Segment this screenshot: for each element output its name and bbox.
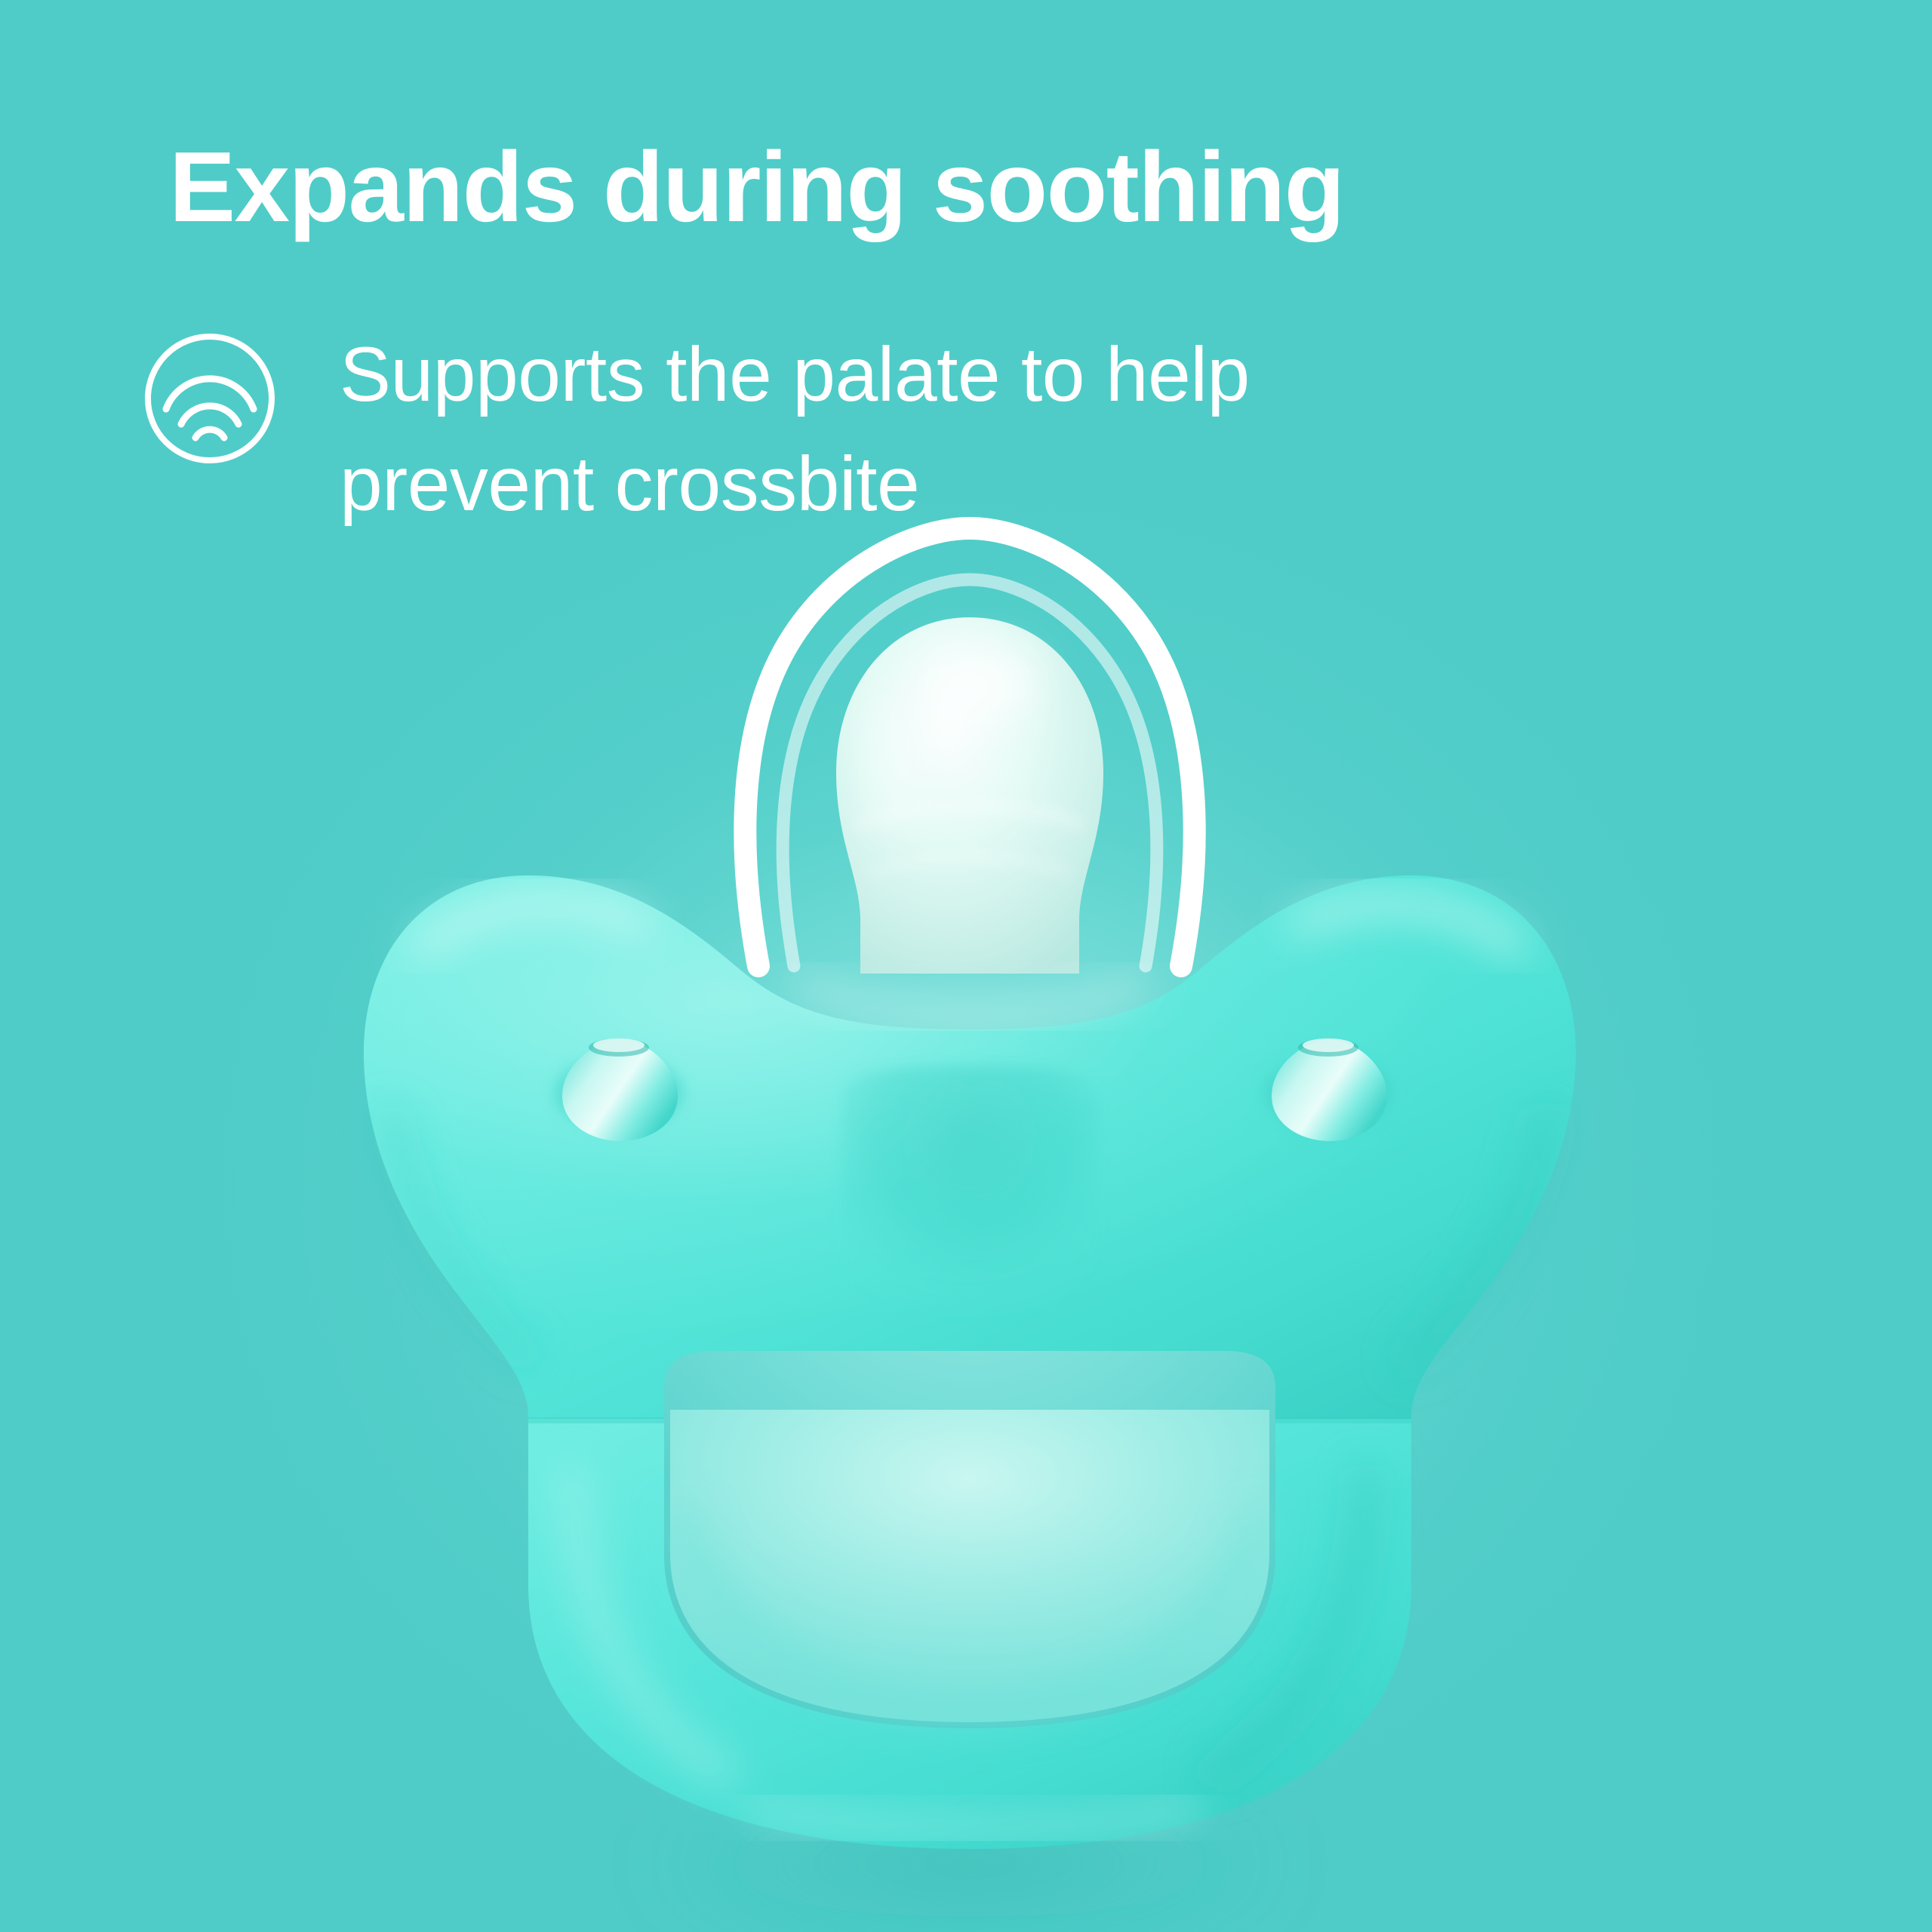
expansion-outline-rings [745, 528, 1194, 966]
pacifier-illustration [0, 0, 1932, 1932]
feature-description-line-1: Supports the palate to help [340, 320, 1250, 429]
pacifier-shield [364, 875, 1576, 1441]
background-glow-outer [0, 0, 1932, 1932]
page-title: Expands during soothing [169, 137, 1344, 237]
promo-image: Expands during soothing Supports the pal… [0, 0, 1932, 1932]
shield-nub-left [554, 1038, 684, 1141]
pacifier-nipple [836, 617, 1103, 974]
product-drop-shadow [645, 1800, 1294, 1928]
shield-nub-right [1263, 1038, 1393, 1141]
feature-callout: Supports the palate to help prevent cros… [142, 325, 1250, 539]
pacifier-handle-ring [528, 1410, 1411, 1849]
feature-description: Supports the palate to help prevent cros… [340, 320, 1250, 539]
feature-description-line-2: prevent crossbite [340, 429, 1250, 539]
expansion-waves-icon [142, 331, 278, 466]
background-glow [0, 0, 1932, 1932]
